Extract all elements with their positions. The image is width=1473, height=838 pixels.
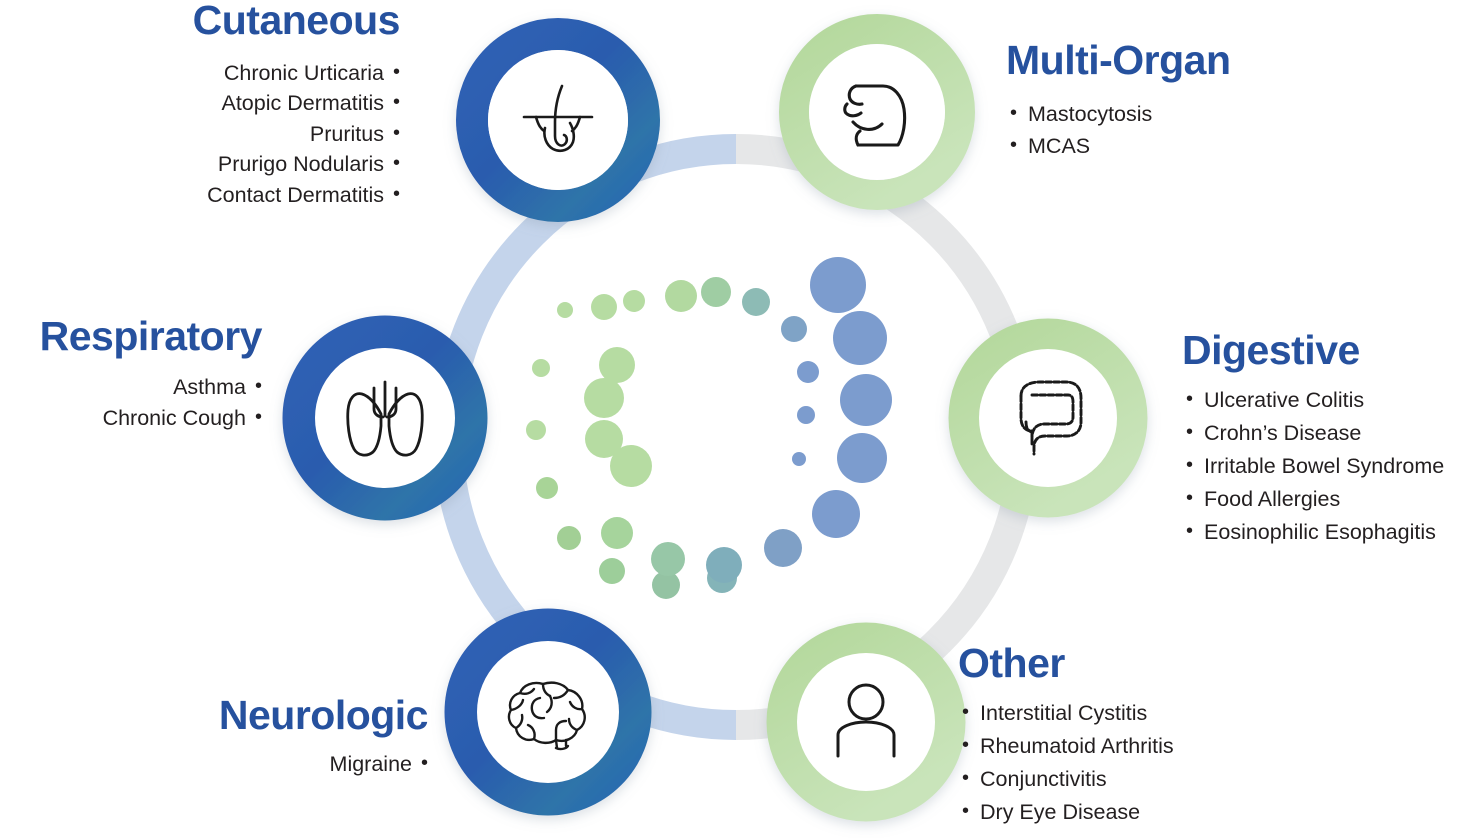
bullet-glyph: • (393, 62, 400, 82)
bullet-glyph: • (1010, 135, 1017, 155)
list-item: •Rheumatoid Arthritis (962, 730, 1358, 763)
list-item: •Mastocytosis (1010, 98, 1406, 130)
bullet-glyph: • (393, 123, 400, 143)
list-item: Migraine• (100, 749, 428, 780)
bullet-glyph: • (393, 184, 400, 204)
bullet-glyph: • (1186, 521, 1193, 541)
bullet-glyph: • (255, 407, 262, 427)
heading-multi-organ: Multi-Organ (1006, 40, 1406, 82)
list-item: Atopic Dermatitis• (60, 88, 400, 119)
bullet-glyph: • (393, 92, 400, 112)
central-dot-swirl (526, 257, 892, 599)
list-item: Chronic Cough• (0, 403, 262, 434)
group-multi-organ: Multi-Organ •Mastocytosis •MCAS (1006, 40, 1406, 162)
list-other: •Interstitial Cystitis •Rheumatoid Arthr… (958, 697, 1358, 829)
bullet-glyph: • (962, 801, 969, 821)
list-item: Contact Dermatitis• (60, 180, 400, 211)
list-respiratory: Asthma• Chronic Cough• (0, 372, 262, 434)
bullet-glyph: • (1186, 455, 1193, 475)
group-respiratory: Respiratory Asthma• Chronic Cough• (0, 316, 262, 434)
list-item: •Conjunctivitis (962, 763, 1358, 796)
heading-respiratory: Respiratory (0, 316, 262, 358)
list-item: •Ulcerative Colitis (1186, 384, 1473, 417)
group-neurologic: Neurologic Migraine• (100, 695, 428, 780)
heading-neurologic: Neurologic (100, 695, 428, 737)
bullet-glyph: • (1186, 422, 1193, 442)
bullet-glyph: • (393, 153, 400, 173)
bullet-glyph: • (962, 735, 969, 755)
list-item: •Interstitial Cystitis (962, 697, 1358, 730)
infographic-canvas: Cutaneous Chronic Urticaria• Atopic Derm… (0, 0, 1473, 838)
list-neurologic: Migraine• (100, 749, 428, 780)
bullet-glyph: • (1186, 488, 1193, 508)
list-multi-organ: •Mastocytosis •MCAS (1006, 98, 1406, 162)
bullet-glyph: • (421, 753, 428, 773)
list-cutaneous: Chronic Urticaria• Atopic Dermatitis• Pr… (60, 58, 400, 211)
heading-cutaneous: Cutaneous (60, 0, 400, 42)
list-digestive: •Ulcerative Colitis •Crohn’s Disease •Ir… (1182, 384, 1473, 549)
list-item: •Irritable Bowel Syndrome (1186, 450, 1473, 483)
list-item: •MCAS (1010, 130, 1406, 162)
group-cutaneous: Cutaneous Chronic Urticaria• Atopic Derm… (60, 0, 400, 210)
list-item: Asthma• (0, 372, 262, 403)
list-item: Prurigo Nodularis• (60, 149, 400, 180)
list-item: Chronic Urticaria• (60, 58, 400, 89)
list-item: •Eosinophilic Esophagitis (1186, 516, 1473, 549)
bullet-glyph: • (1186, 389, 1193, 409)
group-digestive: Digestive •Ulcerative Colitis •Crohn’s D… (1182, 330, 1473, 549)
heading-digestive: Digestive (1182, 330, 1473, 372)
list-item: Pruritus• (60, 119, 400, 150)
bullet-glyph: • (962, 702, 969, 722)
bullet-glyph: • (1010, 103, 1017, 123)
list-item: •Dry Eye Disease (962, 796, 1358, 829)
list-item: •Food Allergies (1186, 483, 1473, 516)
heading-other: Other (958, 643, 1358, 685)
bullet-glyph: • (962, 768, 969, 788)
list-item: •Crohn’s Disease (1186, 417, 1473, 450)
group-other: Other •Interstitial Cystitis •Rheumatoid… (958, 643, 1358, 829)
bullet-glyph: • (255, 376, 262, 396)
